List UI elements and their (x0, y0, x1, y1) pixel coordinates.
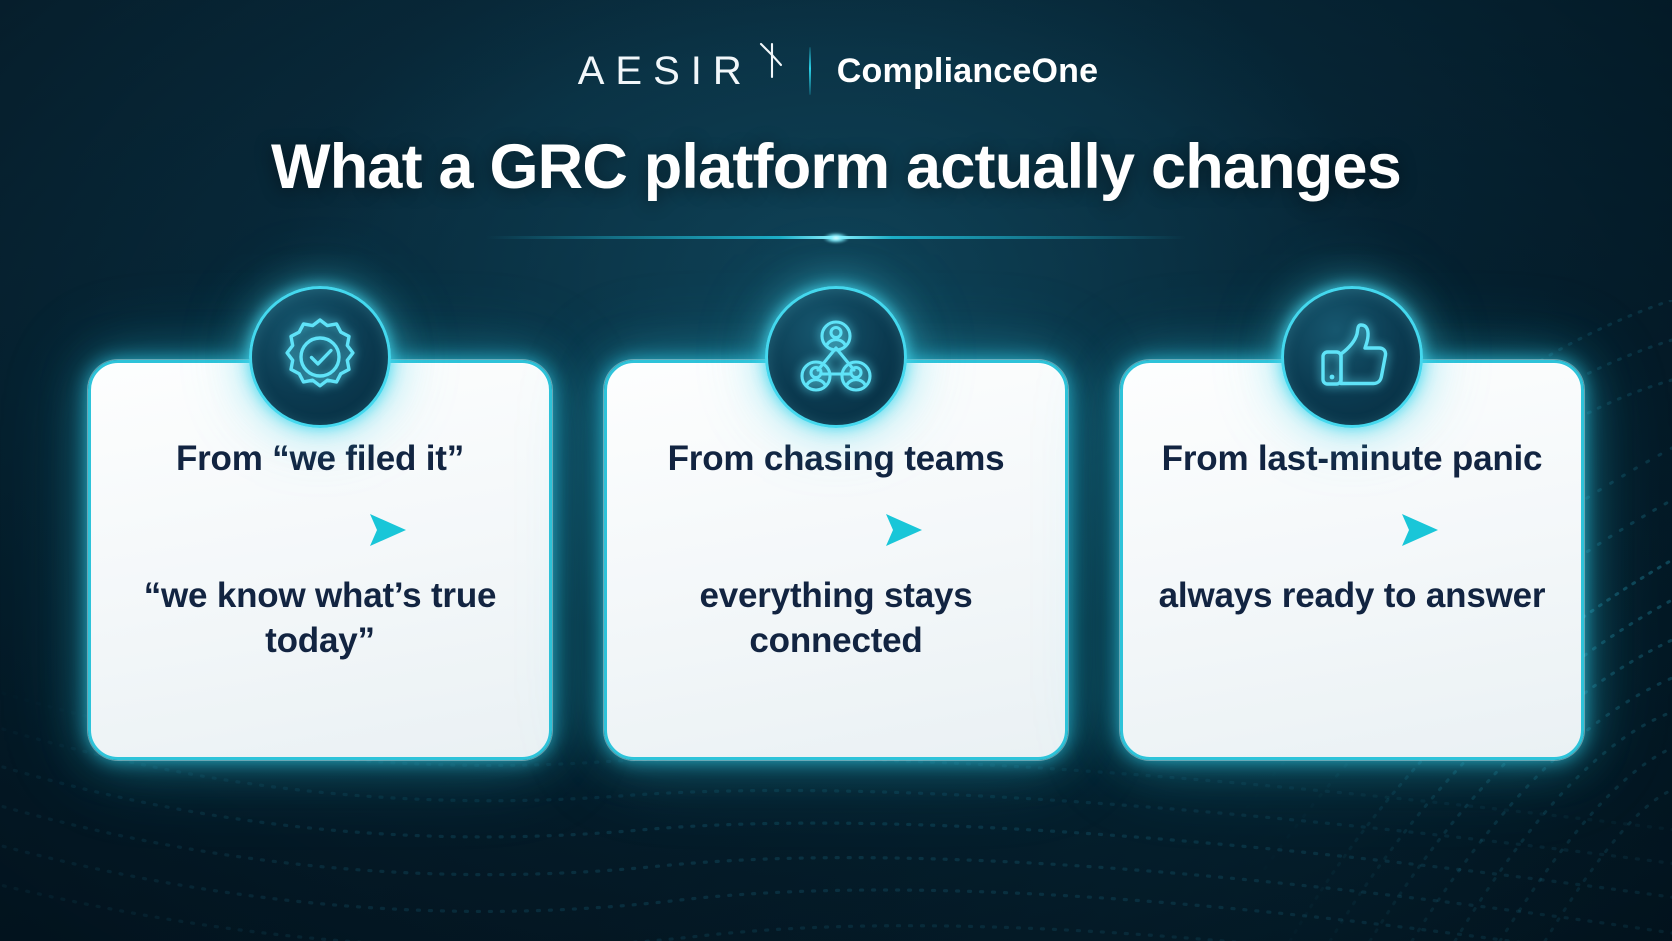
title-divider-glow (486, 236, 1186, 239)
aesir-rune-mark-icon (757, 57, 783, 85)
card-slot-1: From “we filed it” “we know what’s t (88, 360, 552, 760)
arrow-right-icon (1157, 508, 1547, 552)
page-title: What a GRC platform actually changes (0, 133, 1672, 201)
card-to-text: “we know what’s true today” (125, 574, 515, 664)
product-name: ComplianceOne (837, 54, 1098, 88)
team-network-icon (765, 286, 907, 428)
card-to-text: everything stays connected (641, 574, 1031, 664)
card-slot-2: From chasing teams everything stays (604, 360, 1068, 760)
company-name: AESIR (574, 51, 753, 91)
thumbs-up-icon (1281, 286, 1423, 428)
infographic-canvas: AESIR ComplianceOne What a GRC platform … (0, 0, 1672, 941)
brand-header: AESIR ComplianceOne (0, 40, 1672, 102)
logo-divider (809, 47, 811, 95)
comparison-card-row: From “we filed it” “we know what’s t (88, 360, 1584, 760)
aesir-logo: AESIR (574, 51, 783, 91)
card-slot-3: From last-minute panic always ready (1120, 360, 1584, 760)
arrow-right-icon (641, 508, 1031, 552)
verified-badge-icon (249, 286, 391, 428)
card-from-text: From “we filed it” (176, 437, 464, 482)
card-to-text: always ready to answer (1159, 574, 1546, 619)
arrow-right-icon (125, 508, 515, 552)
card-from-text: From last-minute panic (1162, 437, 1543, 482)
card-from-text: From chasing teams (668, 437, 1005, 482)
